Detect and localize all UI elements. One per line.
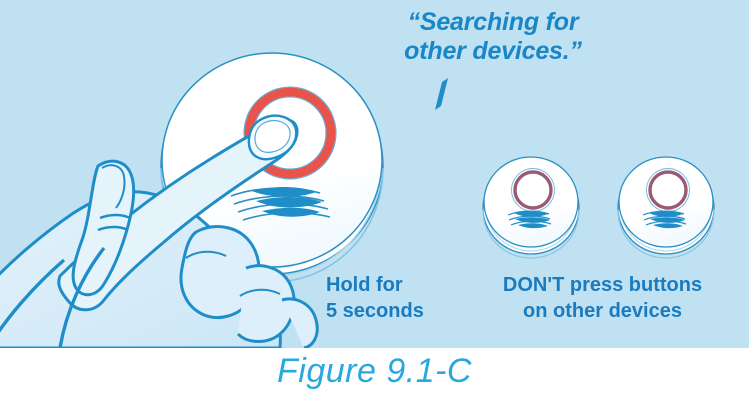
secondary-smoke-detector-1-graphic[interactable] [483,157,579,258]
dont-press-instruction-line-2: on other devices [470,298,735,324]
hold-instruction-label: Hold for 5 seconds [326,272,424,324]
dont-press-instruction-label: DON'T press buttons on other devices [470,272,735,324]
figure-caption: Figure 9.1-C [0,352,749,391]
searching-quote-callout: “Searching for other devices.” [368,8,618,66]
illustration-panel: “Searching for other devices.” Hold for … [0,0,749,348]
figure-container: “Searching for other devices.” Hold for … [0,0,749,416]
callout-pointer-icon [435,78,448,110]
hold-instruction-line-2: 5 seconds [326,298,424,324]
searching-quote-line-1: “Searching for [368,8,618,37]
dont-press-instruction-line-1: DON'T press buttons [470,272,735,298]
searching-quote-line-2: other devices.” [368,37,618,66]
hold-instruction-line-1: Hold for [326,272,424,298]
secondary-smoke-detector-2-graphic[interactable] [618,157,714,258]
